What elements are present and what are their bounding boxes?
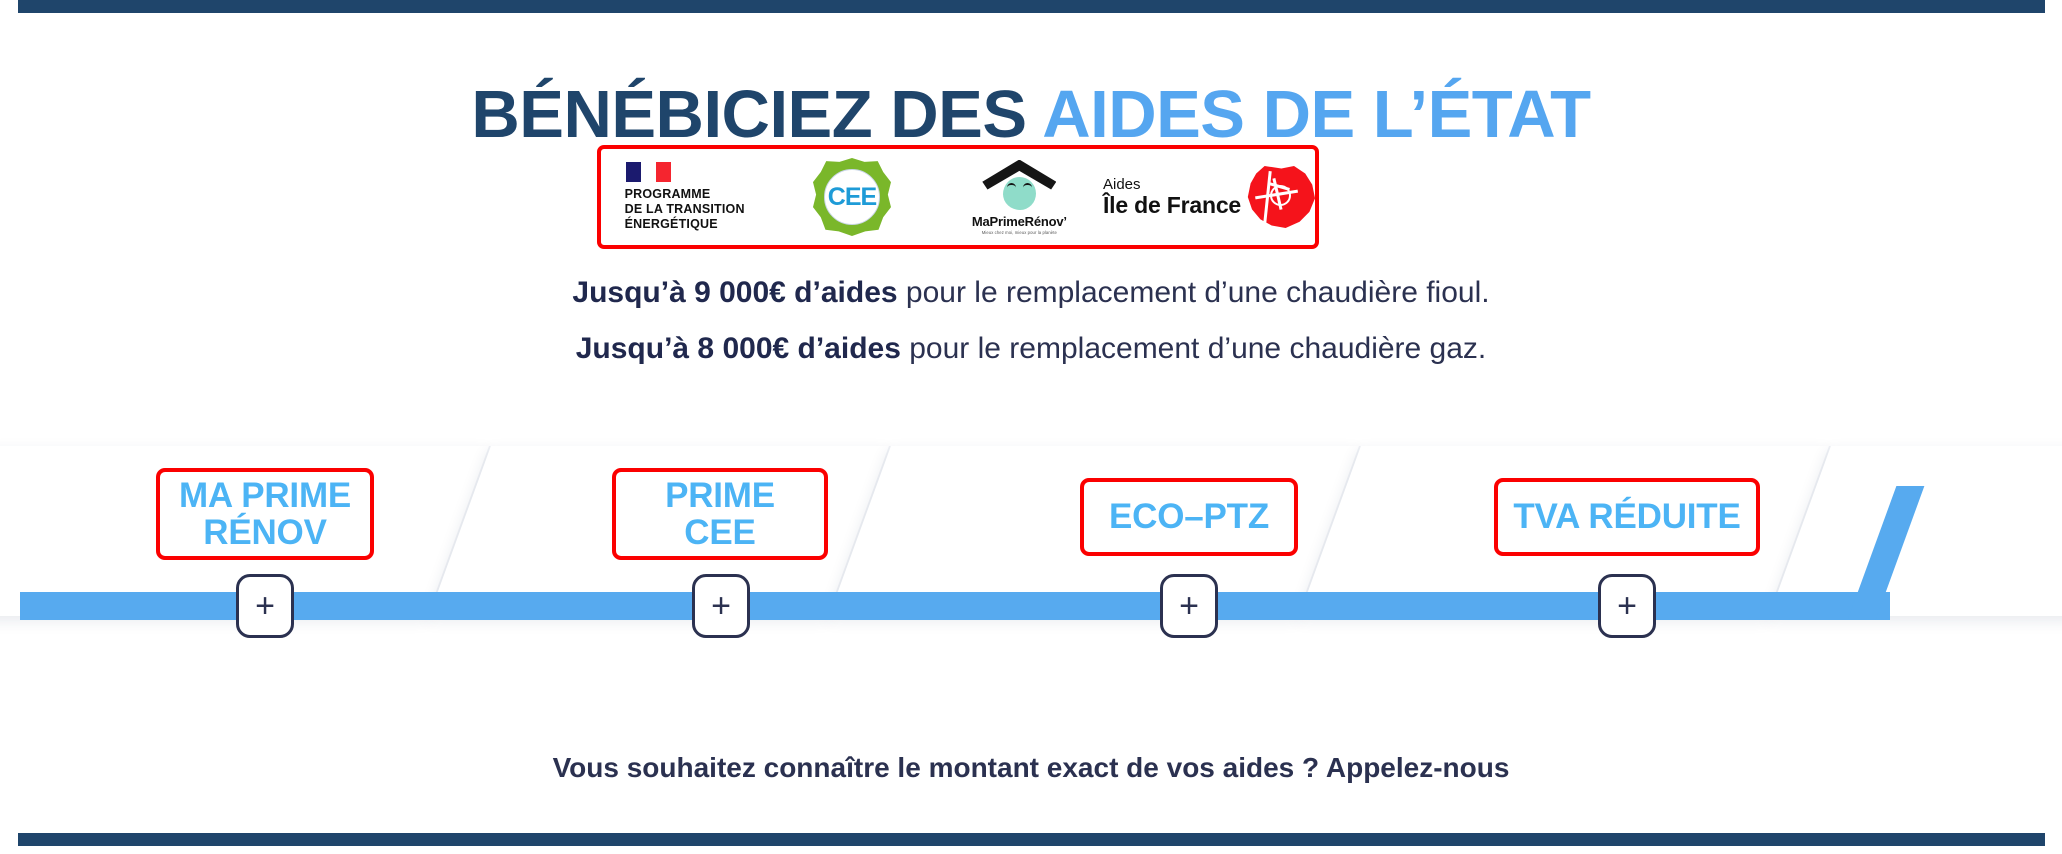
logo-programme-line1: PROGRAMME <box>625 187 745 202</box>
logo-idf-big-label: Île de France <box>1103 193 1241 217</box>
subsidy-line-gaz: Jusqu’à 8 000€ d’aides pour le remplacem… <box>0 334 2062 364</box>
subsidy-line-fioul-rest: pour le remplacement d’une chaudière fio… <box>898 276 1490 309</box>
top-divider-bar <box>18 0 2045 13</box>
subsidy-amount-lines: Jusqu’à 9 000€ d’aides pour le remplacem… <box>0 278 2062 390</box>
logo-aides-ile-de-france: Aides Île de France <box>1103 149 1315 245</box>
page-title-light-part: AIDES DE L’ÉTAT <box>1042 77 1590 152</box>
expand-button-prime-cee[interactable]: + <box>692 574 750 638</box>
logo-programme-line2: DE LA TRANSITION <box>625 202 745 217</box>
page-title: BÉNÉBICIEZ DES AIDES DE L’ÉTAT <box>0 81 2062 148</box>
logo-idf-small-label: Aides <box>1103 177 1241 194</box>
subsidy-line-fioul-amount: Jusqu’à 9 000€ d’aides <box>572 276 897 309</box>
aid-card-ma-prime-renov-line2: RÉNOV <box>203 513 326 552</box>
aid-card-prime-cee[interactable]: PRIMECEE <box>612 468 828 560</box>
plus-icon: + <box>711 589 731 623</box>
aid-card-eco-ptz[interactable]: ECO–PTZ <box>1080 478 1298 556</box>
logo-maprimerenov: MaPrimeRénov’ Mieux chez moi, mieux pour… <box>936 149 1103 245</box>
aid-card-ma-prime-renov-line1: MA PRIME <box>179 476 351 515</box>
subsidy-line-gaz-amount: Jusqu’à 8 000€ d’aides <box>576 332 901 365</box>
logo-maprimerenov-label: MaPrimeRénov’ <box>972 214 1067 229</box>
subsidy-line-gaz-rest: pour le remplacement d’une chaudière gaz… <box>901 332 1486 365</box>
subsidy-line-fioul: Jusqu’à 9 000€ d’aides pour le remplacem… <box>0 278 2062 308</box>
french-flag-icon <box>626 162 671 182</box>
aid-card-prime-cee-line2: CEE <box>684 513 755 552</box>
cee-badge-icon: CEE <box>813 158 891 236</box>
plus-icon: + <box>1617 589 1637 623</box>
aid-card-eco-ptz-label: ECO–PTZ <box>1109 498 1269 535</box>
logo-maprimerenov-tagline: Mieux chez moi, mieux pour la planète <box>982 230 1057 235</box>
aid-card-ma-prime-renov[interactable]: MA PRIMERÉNOV <box>156 468 374 560</box>
aid-card-prime-cee-line1: PRIME <box>665 476 775 515</box>
logo-programme-text: PROGRAMME DE LA TRANSITION ÉNERGÉTIQUE <box>625 187 745 233</box>
aid-card-tva-reduite-label: TVA RÉDUITE <box>1513 498 1740 535</box>
plus-icon: + <box>1179 589 1199 623</box>
page-title-dark-part: BÉNÉBICIEZ DES <box>471 77 1042 152</box>
aid-ribbon: MA PRIMERÉNOV PRIMECEE ECO–PTZ TVA RÉDUI… <box>0 446 2062 666</box>
house-roof-icon <box>982 160 1056 210</box>
bottom-divider-bar <box>18 833 2045 846</box>
expand-button-ma-prime-renov[interactable]: + <box>236 574 294 638</box>
plus-icon: + <box>255 589 275 623</box>
call-to-action-text: Vous souhaitez connaître le montant exac… <box>0 752 2062 784</box>
logo-programme-transition-energetique: PROGRAMME DE LA TRANSITION ÉNERGÉTIQUE <box>601 149 768 245</box>
partner-logo-strip: PROGRAMME DE LA TRANSITION ÉNERGÉTIQUE C… <box>597 145 1319 249</box>
aid-card-tva-reduite[interactable]: TVA RÉDUITE <box>1494 478 1760 556</box>
logo-programme-line3: ÉNERGÉTIQUE <box>625 217 745 232</box>
ile-de-france-map-icon <box>1245 166 1315 228</box>
logo-cee: CEE <box>768 149 935 245</box>
expand-button-tva-reduite[interactable]: + <box>1598 574 1656 638</box>
logo-cee-label: CEE <box>828 185 876 210</box>
expand-button-eco-ptz[interactable]: + <box>1160 574 1218 638</box>
